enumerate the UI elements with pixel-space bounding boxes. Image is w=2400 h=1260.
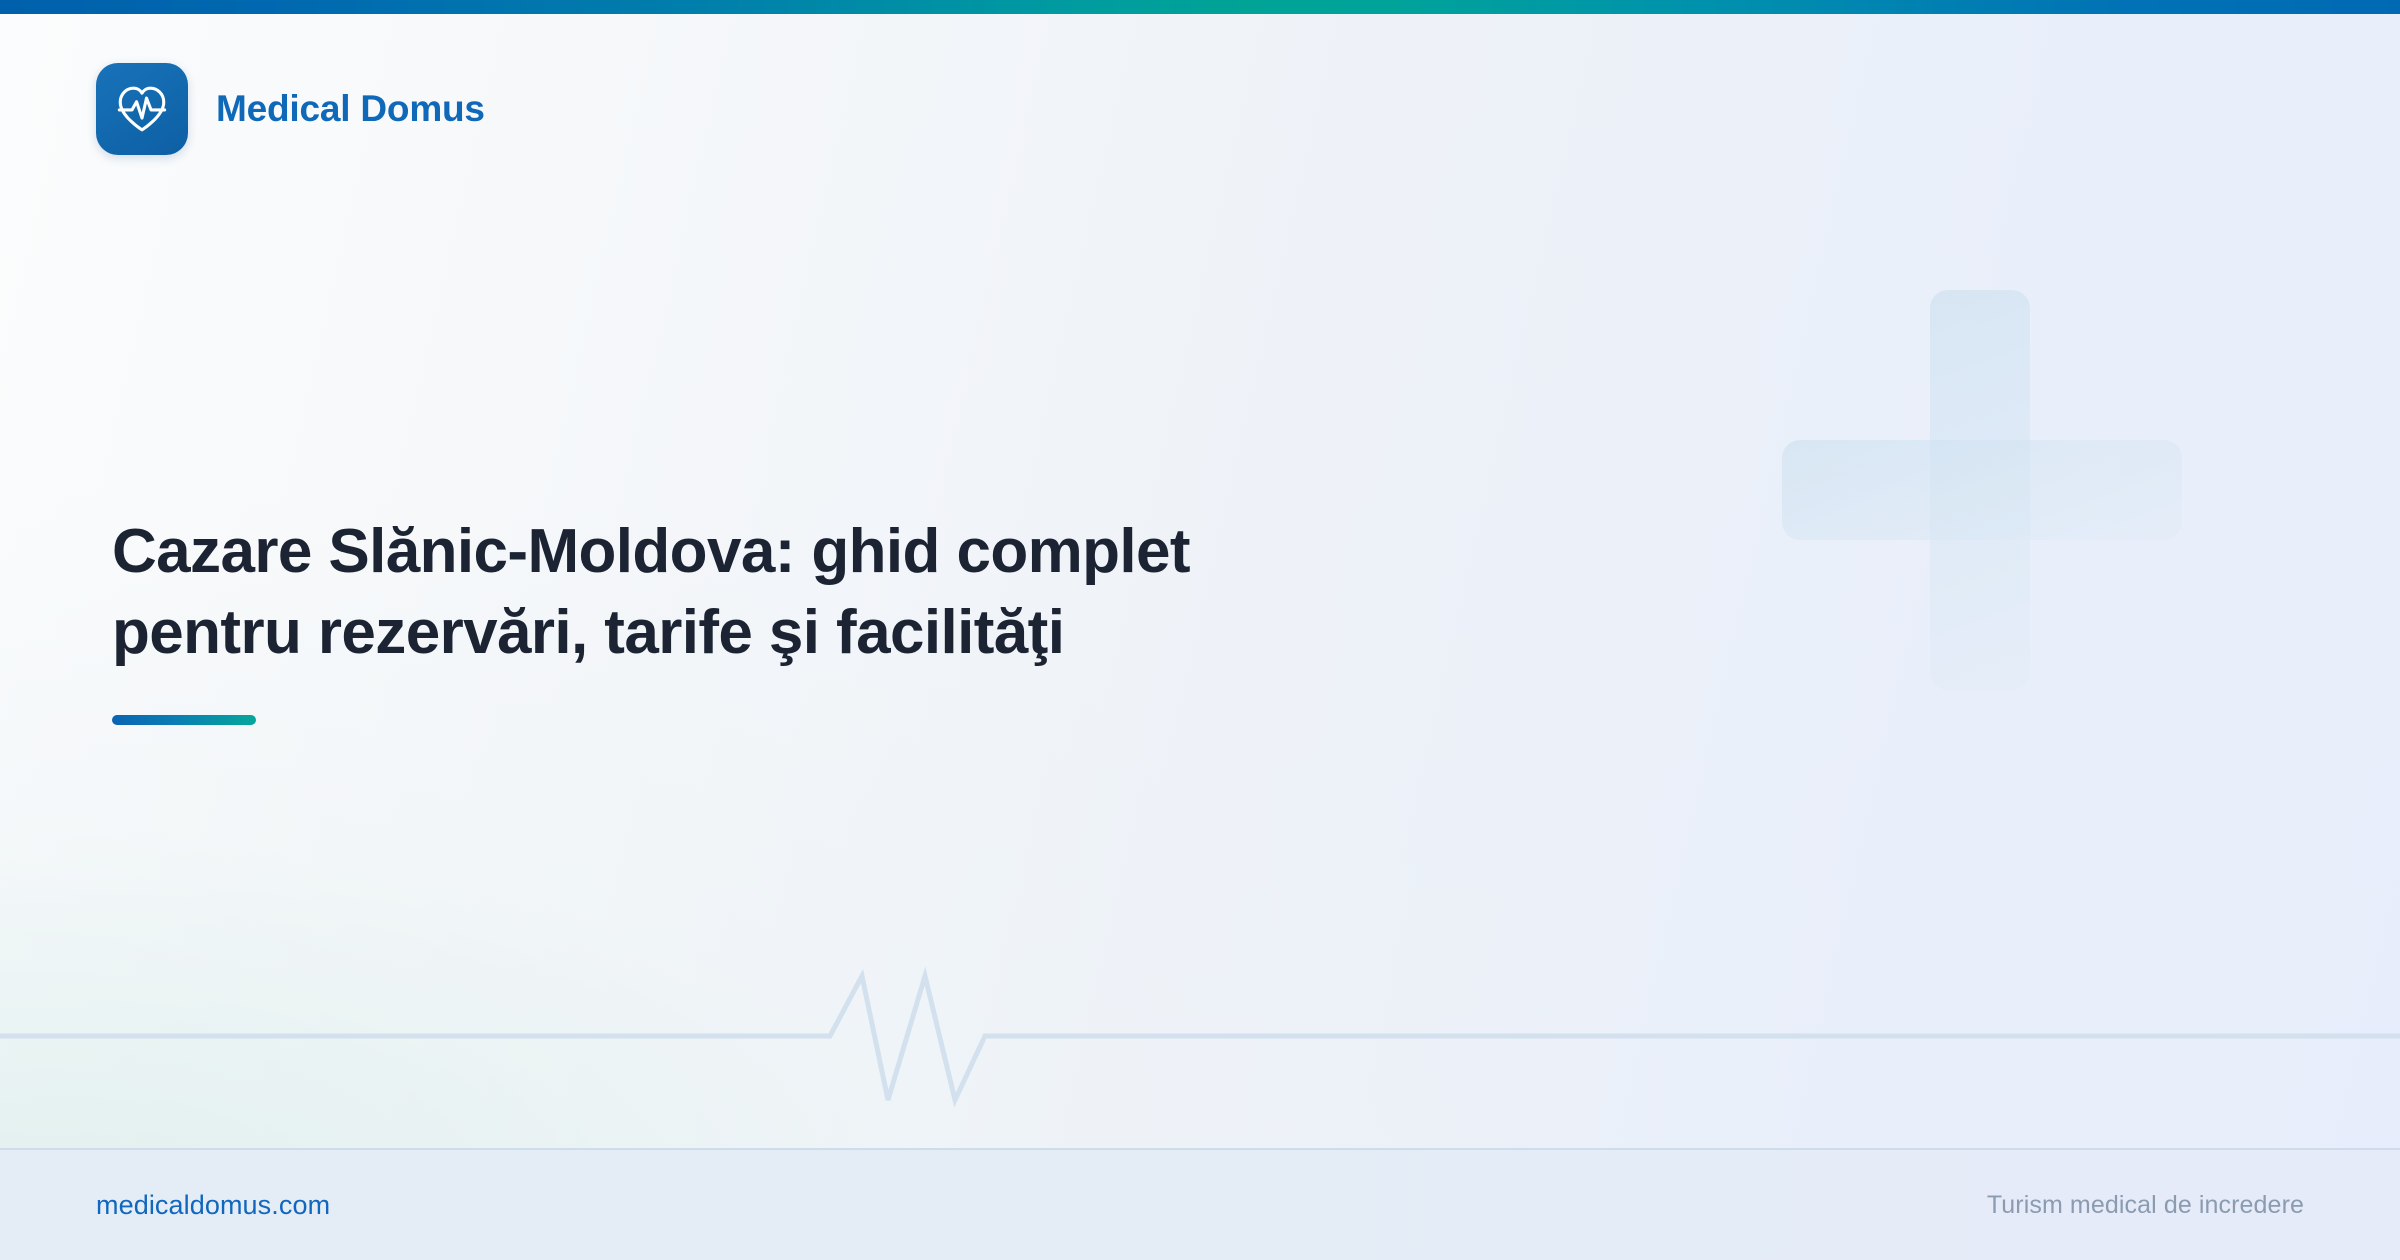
title-accent-underline [112,715,256,725]
page-title: Cazare Slănic-Moldova: ghid complet pent… [112,512,1532,673]
page-title-line-1: Cazare Slănic-Moldova: ghid complet [112,512,1532,593]
brand-name: Medical Domus [216,88,485,130]
footer-tagline: Turism medical de incredere [1987,1191,2304,1220]
cross-vertical-bar [1930,290,2030,690]
hero-card: Medical Domus Cazare Slănic-Moldova: ghi… [0,0,2400,1260]
headline-block: Cazare Slănic-Moldova: ghid complet pent… [112,512,1532,725]
footer-site-url[interactable]: medicaldomus.com [96,1190,330,1221]
medical-cross-watermark-icon [1782,290,2182,690]
footer-bar: medicaldomus.com Turism medical de incre… [0,1148,2400,1260]
brand-lockup[interactable]: Medical Domus [96,63,485,155]
page-title-line-2: pentru rezervări, tarife şi facilităţi [112,593,1532,674]
top-accent-bar [0,0,2400,14]
cross-horizontal-bar [1782,440,2182,540]
ekg-pulse-line-icon [0,960,2400,1110]
heart-pulse-icon [96,63,188,155]
